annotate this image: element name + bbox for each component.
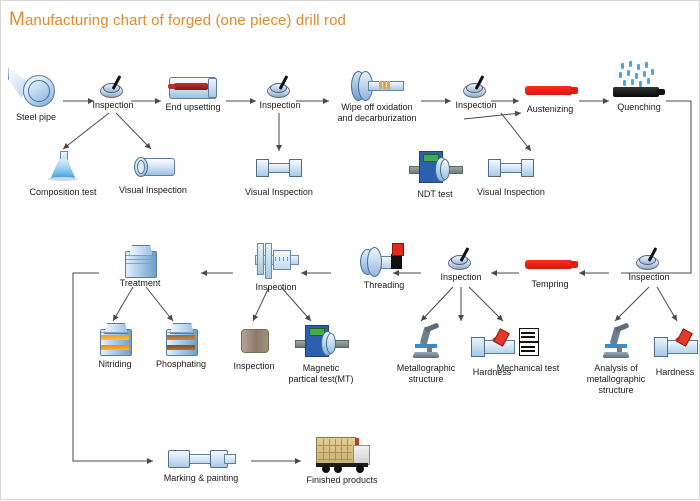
threading-icon <box>360 243 408 279</box>
sub-label: Nitriding <box>89 359 141 370</box>
magnifier-icon <box>446 247 476 271</box>
grinding-wheel-icon <box>348 69 406 101</box>
round-pipe-icon <box>131 155 175 177</box>
specimen-icon <box>515 327 541 357</box>
sub-label: NDT test <box>405 189 465 200</box>
sub-composition-test[interactable]: Composition test <box>23 151 103 198</box>
sub-label: Phosphating <box>151 359 211 370</box>
upset-cylinder-icon <box>167 73 219 101</box>
title-first-letter: M <box>9 9 25 30</box>
step-label: Inspection <box>85 100 141 111</box>
sub-label: Analysis of metallographic structure <box>579 363 653 396</box>
title-rest: anufacturing chart of forged (one piece)… <box>25 12 346 29</box>
drum-icon <box>123 245 157 277</box>
step-inspection-5[interactable]: Inspection <box>621 247 677 283</box>
page-title: Manufacturing chart of forged (one piece… <box>9 9 346 31</box>
sub-phosphating[interactable]: Phosphating <box>151 323 211 370</box>
step-finished-products[interactable]: Finished products <box>297 437 387 486</box>
microscope-icon <box>598 325 634 359</box>
step-austenizing[interactable]: Austenizing <box>519 83 581 115</box>
magnifier-icon <box>265 75 295 99</box>
step-quenching[interactable]: Quenching <box>609 61 669 113</box>
sub-label: Visual Inspection <box>469 187 553 198</box>
sub-metallographic-structure[interactable]: Metallographic structure <box>391 325 461 385</box>
step-inspection-2[interactable]: Inspection <box>253 75 307 111</box>
step-threading[interactable]: Threading <box>353 243 415 291</box>
step-label: Inspection <box>245 282 307 293</box>
sub-label: Visual Inspection <box>111 185 195 196</box>
step-treatment[interactable]: Treatment <box>109 245 171 289</box>
sub-label: Inspection <box>225 361 283 372</box>
step-label: Inspection <box>621 272 677 283</box>
sub-inspection-block[interactable]: Inspection <box>225 327 283 372</box>
step-tempring[interactable]: Tempring <box>521 257 579 290</box>
sub-mechanical-test[interactable]: Mechanical test <box>489 327 567 374</box>
sub-label: Composition test <box>23 187 103 198</box>
step-inspection-3[interactable]: Inspection <box>449 75 503 111</box>
hardness-tester-icon <box>652 331 698 361</box>
step-label: Tempring <box>521 279 579 290</box>
step-label: Marking & painting <box>153 473 249 484</box>
step-inspection-caliper[interactable]: Inspection <box>245 241 307 293</box>
truck-icon <box>314 437 370 473</box>
step-inspection-4[interactable]: Inspection <box>433 247 489 283</box>
magnifier-icon <box>98 75 128 99</box>
step-label: Treatment <box>109 278 171 289</box>
step-label: Inspection <box>433 272 489 283</box>
dumbbell-rod-icon <box>488 157 534 177</box>
sub-visual-inspection-3[interactable]: Visual Inspection <box>469 157 553 198</box>
drum-phosphating-icon <box>164 323 198 355</box>
step-label: Threading <box>353 280 415 291</box>
marking-rod-icon <box>166 447 236 469</box>
sub-magnetic-particle-test[interactable]: Magnetic partical test(MT) <box>283 323 359 385</box>
flask-icon <box>46 151 80 181</box>
hot-rod-icon <box>524 83 576 99</box>
step-inspection-1[interactable]: Inspection <box>85 75 141 111</box>
ndt-machine-icon <box>295 323 347 359</box>
sub-hardness-2[interactable]: Hardness <box>649 331 700 378</box>
step-label: End upsetting <box>159 102 227 113</box>
sub-visual-inspection-2[interactable]: Visual Inspection <box>237 157 321 198</box>
sub-visual-inspection-1[interactable]: Visual Inspection <box>111 155 195 196</box>
quenching-icon <box>611 61 667 101</box>
sub-ndt-test[interactable]: NDT test <box>405 149 465 200</box>
sub-analysis-metallographic[interactable]: Analysis of metallographic structure <box>579 325 653 396</box>
step-wipe-off-oxidation[interactable]: Wipe off oxidation and decarburization <box>331 69 423 124</box>
step-end-upsetting[interactable]: End upsetting <box>159 73 227 113</box>
step-label: Wipe off oxidation and decarburization <box>331 102 423 124</box>
magnifier-icon <box>461 75 491 99</box>
ndt-machine-icon <box>409 149 461 185</box>
step-label: Steel pipe <box>5 112 67 123</box>
step-label: Quenching <box>609 102 669 113</box>
sub-label: Magnetic partical test(MT) <box>283 363 359 385</box>
magnifier-icon <box>634 247 664 271</box>
dumbbell-rod-icon <box>256 157 302 177</box>
step-steel-pipe[interactable]: Steel pipe <box>5 63 67 123</box>
brown-block-icon <box>239 327 269 353</box>
hot-rod-icon <box>524 257 576 273</box>
steel-pipe-icon <box>7 63 65 111</box>
sub-label: Mechanical test <box>489 363 567 374</box>
step-marking-painting[interactable]: Marking & painting <box>153 447 249 484</box>
sub-nitriding[interactable]: Nitriding <box>89 323 141 370</box>
step-label: Finished products <box>297 475 387 486</box>
microscope-icon <box>408 325 444 359</box>
sub-label: Visual Inspection <box>237 187 321 198</box>
step-label: Inspection <box>253 100 307 111</box>
step-label: Inspection <box>449 100 503 111</box>
sub-label: Metallographic structure <box>391 363 461 385</box>
step-label: Austenizing <box>519 104 581 115</box>
manufacturing-flowchart: Manufacturing chart of forged (one piece… <box>1 1 700 501</box>
drum-nitriding-icon <box>98 323 132 355</box>
sub-label: Hardness <box>649 367 700 378</box>
caliper-icon <box>253 241 299 281</box>
